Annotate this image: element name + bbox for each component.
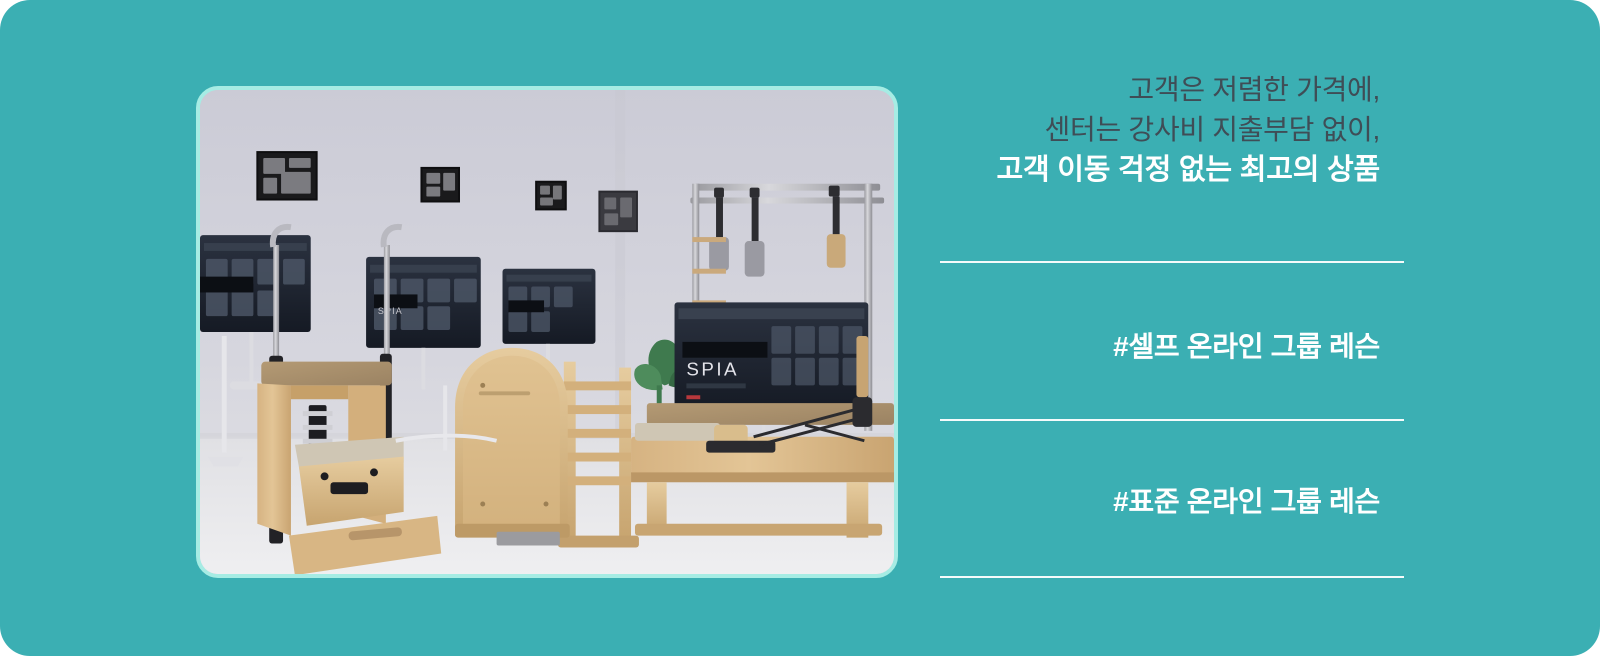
wall-art-4 [599,192,637,232]
feature-item-standard-online-group-lesson[interactable]: #표준 온라인 그룹 레슨 [900,480,1384,520]
wall-art-1 [257,152,316,199]
wall-art-3 [536,182,566,210]
wall-art-2 [421,168,459,202]
divider-middle [940,419,1404,421]
feature-item-self-online-group-lesson[interactable]: #셀프 온라인 그룹 레슨 [900,325,1384,365]
studio-photo: SPIA [200,90,894,574]
screen-brand: SPIA [686,358,739,379]
headline: 고객은 저렴한 가격에, 센터는 강사비 지출부담 없이, 고객 이동 걱정 없… [900,70,1384,190]
studio-photo-card: SPIA [196,86,898,578]
headline-line-3: 고객 이동 걱정 없는 최고의 상품 [900,150,1380,190]
text-column: 고객은 저렴한 가격에, 센터는 강사비 지출부담 없이, 고객 이동 걱정 없… [900,70,1384,590]
screen-brand-small: SPIA [378,306,403,316]
headline-line-2: 센터는 강사비 지출부담 없이, [900,110,1380,150]
barrel [455,348,570,546]
promo-banner: SPIA [0,0,1600,656]
headline-line-1: 고객은 저렴한 가격에, [900,70,1380,110]
divider-top [940,261,1404,263]
divider-bottom [940,576,1404,578]
